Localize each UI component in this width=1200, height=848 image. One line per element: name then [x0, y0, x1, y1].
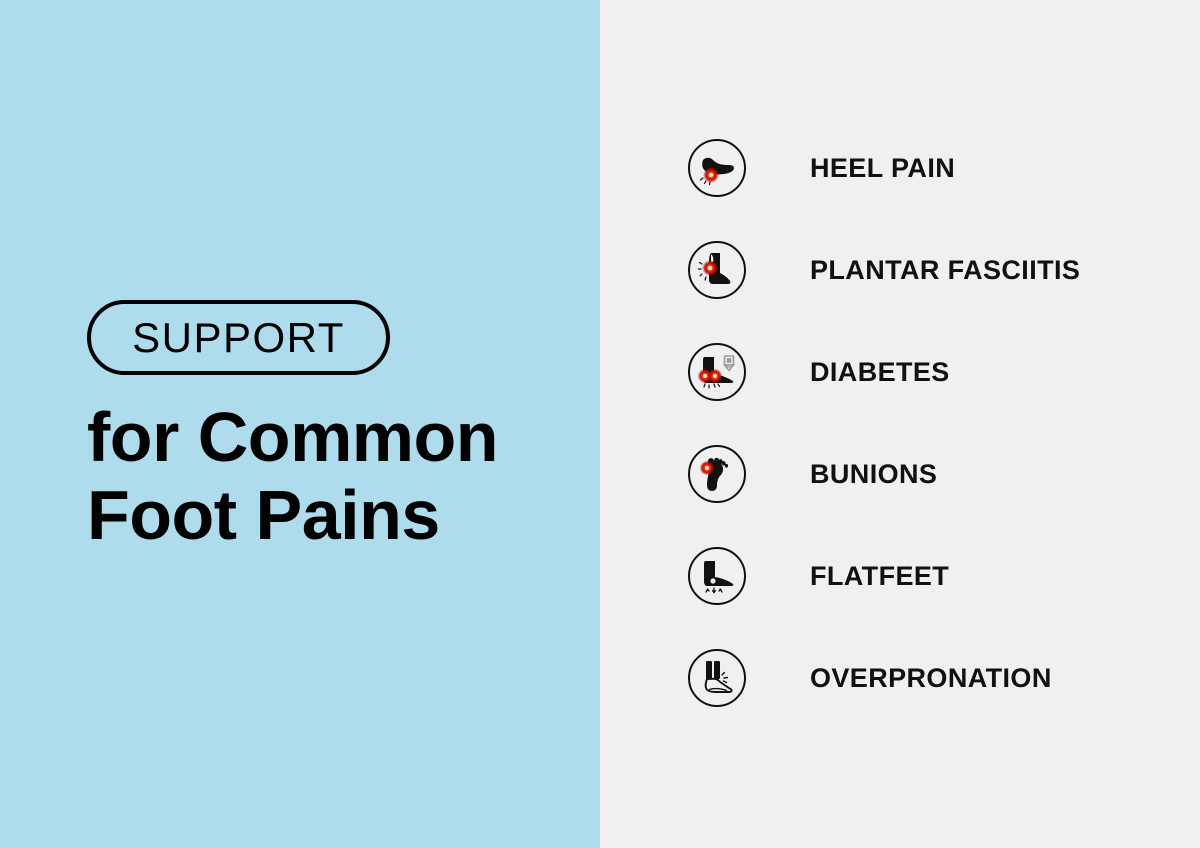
list-item[interactable]: HEEL PAIN [688, 139, 1168, 197]
plantar-fasciitis-icon [688, 241, 746, 299]
page-title-line-1: for Common [87, 398, 567, 476]
list-item[interactable]: BUNIONS [688, 445, 1168, 503]
list-item[interactable]: OVERPRONATION [688, 649, 1168, 707]
condition-label: DIABETES [810, 357, 950, 388]
condition-label: BUNIONS [810, 459, 937, 490]
support-badge: SUPPORT [87, 300, 390, 375]
flatfoot-icon [688, 547, 746, 605]
right-panel: HEEL PAIN [600, 0, 1200, 848]
condition-label: PLANTAR FASCIITIS [810, 255, 1080, 286]
overpronation-icon [688, 649, 746, 707]
list-item[interactable]: DIABETES [688, 343, 1168, 401]
list-item[interactable]: FLATFEET [688, 547, 1168, 605]
condition-label: HEEL PAIN [810, 153, 955, 184]
condition-list: HEEL PAIN [688, 139, 1168, 707]
condition-label: FLATFEET [810, 561, 949, 592]
condition-label: OVERPRONATION [810, 663, 1052, 694]
page-title-line-2: Foot Pains [87, 476, 567, 554]
glucose-meter-glyph [725, 356, 734, 371]
support-badge-label: SUPPORT [132, 317, 345, 359]
page-title: for Common Foot Pains [87, 398, 567, 555]
list-item[interactable]: PLANTAR FASCIITIS [688, 241, 1168, 299]
heel-pain-icon [688, 139, 746, 197]
poster-root: SUPPORT for Common Foot Pains [0, 0, 1200, 848]
left-panel: SUPPORT for Common Foot Pains [0, 0, 600, 848]
bunion-footprint-icon [688, 445, 746, 503]
diabetes-foot-icon [688, 343, 746, 401]
